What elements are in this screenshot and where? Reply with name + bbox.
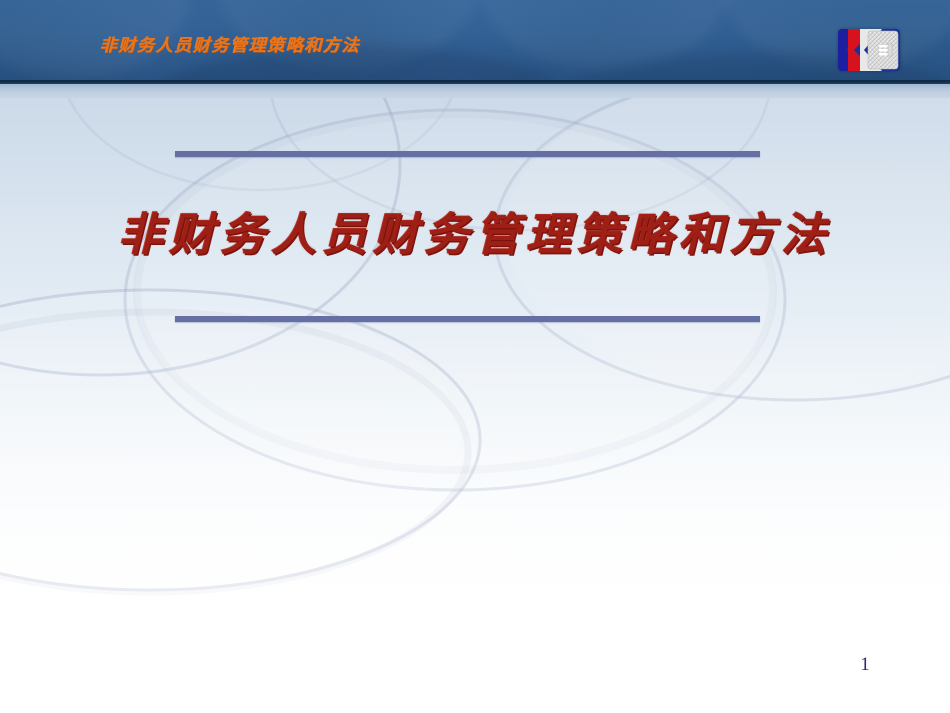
header-title: 非财务人员财务管理策略和方法 [100, 31, 360, 56]
page-title: 非财务人员财务管理策略和方法 [0, 198, 950, 263]
title-rule-bottom [175, 316, 760, 322]
header-gradient-fade [0, 84, 950, 98]
company-logo [838, 29, 900, 71]
page-number: 1 [852, 654, 878, 676]
title-rule-top [175, 151, 760, 157]
presentation-slide: 非财务人员财务管理策略和方法 [0, 0, 950, 713]
background-decoration [0, 0, 950, 713]
